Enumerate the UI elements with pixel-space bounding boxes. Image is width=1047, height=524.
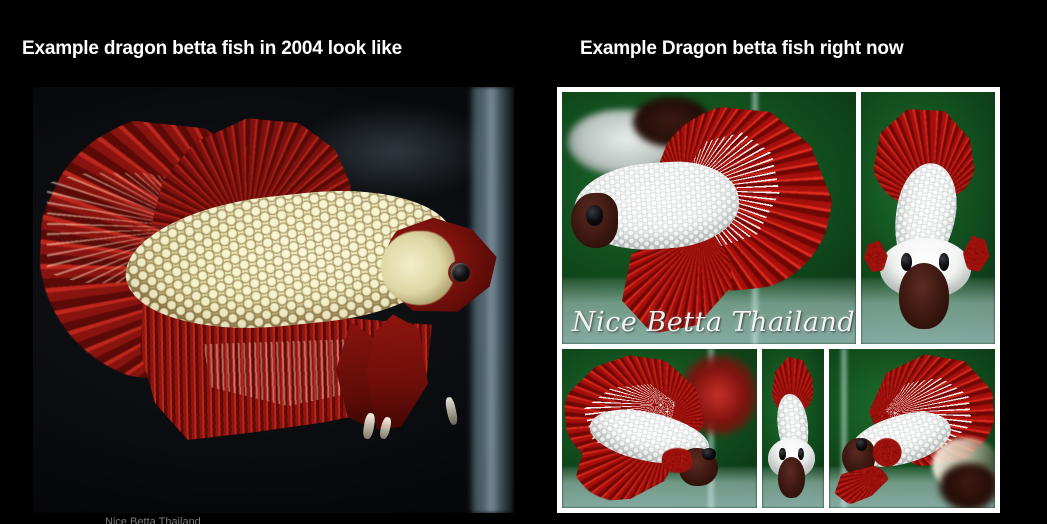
pectoral-fin [872, 438, 902, 467]
fish-head-mask [778, 457, 805, 498]
fish-head-mask [899, 263, 950, 329]
right-section-title: Example Dragon betta fish right now [580, 38, 903, 60]
left-betta-photo [33, 87, 514, 513]
collage-panel-top-right [861, 92, 995, 344]
background-fish-dark [939, 463, 995, 508]
collage-panel-bottom-left [562, 349, 757, 508]
collage-panel-bottom-middle [762, 349, 824, 508]
left-section-title: Example dragon betta fish in 2004 look l… [22, 38, 402, 60]
collage-panel-bottom-right [829, 349, 995, 508]
left-photo-caption: Nice Betta Thailand [105, 516, 395, 524]
collage-row-bottom [562, 349, 995, 508]
right-betta-collage: Nice Betta Thailand [557, 87, 1000, 513]
page-root: { "page": { "background_color": "#000000… [0, 0, 1047, 524]
fish-eye-left [901, 253, 912, 271]
fish-eye [586, 205, 604, 225]
collage-panel-top-left: Nice Betta Thailand [562, 92, 856, 344]
fish-eye [451, 263, 470, 282]
collage-row-top: Nice Betta Thailand [562, 92, 995, 344]
fish-eye [856, 438, 868, 451]
fish-eye-left [779, 448, 785, 461]
fish-gill-plate [381, 231, 455, 305]
pectoral-fin [660, 448, 695, 473]
